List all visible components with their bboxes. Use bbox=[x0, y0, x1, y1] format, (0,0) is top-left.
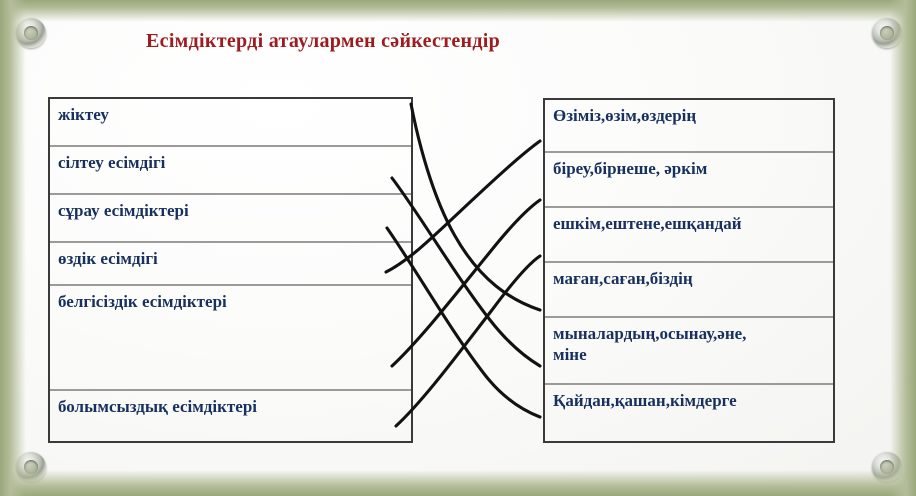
right-row-6-label: Қайдан,қашан,кімдерге bbox=[553, 390, 833, 411]
right-row-4[interactable]: маған,саған,біздің bbox=[545, 263, 833, 318]
left-row-3-label: сұрау есімдіктері bbox=[58, 200, 411, 221]
left-row-4-label: өздік есімдігі bbox=[58, 248, 411, 269]
left-row-4[interactable]: өздік есімдігі bbox=[50, 243, 411, 286]
right-row-2-label: біреу,бірнеше, әркім bbox=[553, 158, 833, 179]
screw-top-right-icon bbox=[872, 18, 902, 48]
right-row-3-label: ешкім,ештене,ешқандай bbox=[553, 213, 833, 234]
right-row-3[interactable]: ешкім,ештене,ешқандай bbox=[545, 208, 833, 263]
left-row-2-label: сілтеу есімдігі bbox=[58, 152, 411, 173]
right-pronouns-table: Өзіміз,өзім,өздерің біреу,бірнеше, әркім… bbox=[543, 98, 835, 443]
left-row-6[interactable]: болымсыздық есімдіктері bbox=[50, 391, 411, 441]
left-row-1-label: жіктеу bbox=[58, 104, 411, 125]
page-title: Есімдіктерді атаулармен сәйкестендір bbox=[146, 30, 500, 53]
screw-bottom-right-icon bbox=[872, 452, 902, 482]
left-row-5[interactable]: белгісіздік есімдіктері bbox=[50, 286, 411, 391]
left-row-1[interactable]: жіктеу bbox=[50, 99, 411, 147]
left-row-2[interactable]: сілтеу есімдігі bbox=[50, 147, 411, 195]
right-row-1[interactable]: Өзіміз,өзім,өздерің bbox=[545, 100, 833, 153]
right-row-5-label: мыналардың,осынау,әне, міне bbox=[553, 323, 833, 365]
right-row-2[interactable]: біреу,бірнеше, әркім bbox=[545, 153, 833, 208]
left-row-3[interactable]: сұрау есімдіктері bbox=[50, 195, 411, 243]
left-row-5-label: белгісіздік есімдіктері bbox=[58, 291, 411, 312]
left-row-6-label: болымсыздық есімдіктері bbox=[58, 396, 411, 417]
right-row-5[interactable]: мыналардың,осынау,әне, міне bbox=[545, 318, 833, 385]
right-row-6[interactable]: Қайдан,қашан,кімдерге bbox=[545, 385, 833, 441]
screw-bottom-left-icon bbox=[16, 452, 46, 482]
slide-canvas: Есімдіктерді атаулармен сәйкестендір жік… bbox=[0, 0, 916, 496]
left-terms-table: жіктеу сілтеу есімдігі сұрау есімдіктері… bbox=[48, 97, 413, 443]
screw-top-left-icon bbox=[16, 18, 46, 48]
right-row-1-label: Өзіміз,өзім,өздерің bbox=[553, 105, 833, 126]
right-row-4-label: маған,саған,біздің bbox=[553, 268, 833, 289]
